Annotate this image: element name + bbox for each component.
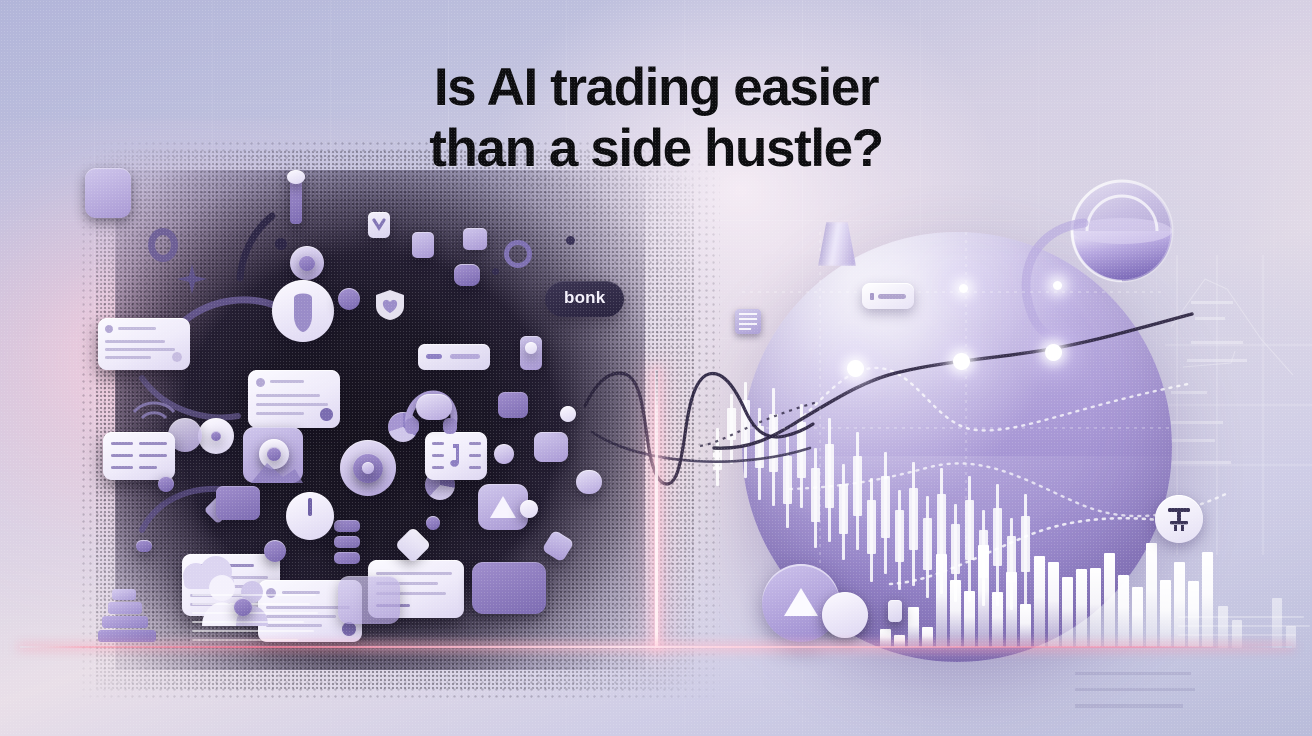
hero-banner: bonk Is AI trading easier than a side hu… [0, 0, 1312, 736]
film-grain-overlay [0, 0, 1312, 736]
